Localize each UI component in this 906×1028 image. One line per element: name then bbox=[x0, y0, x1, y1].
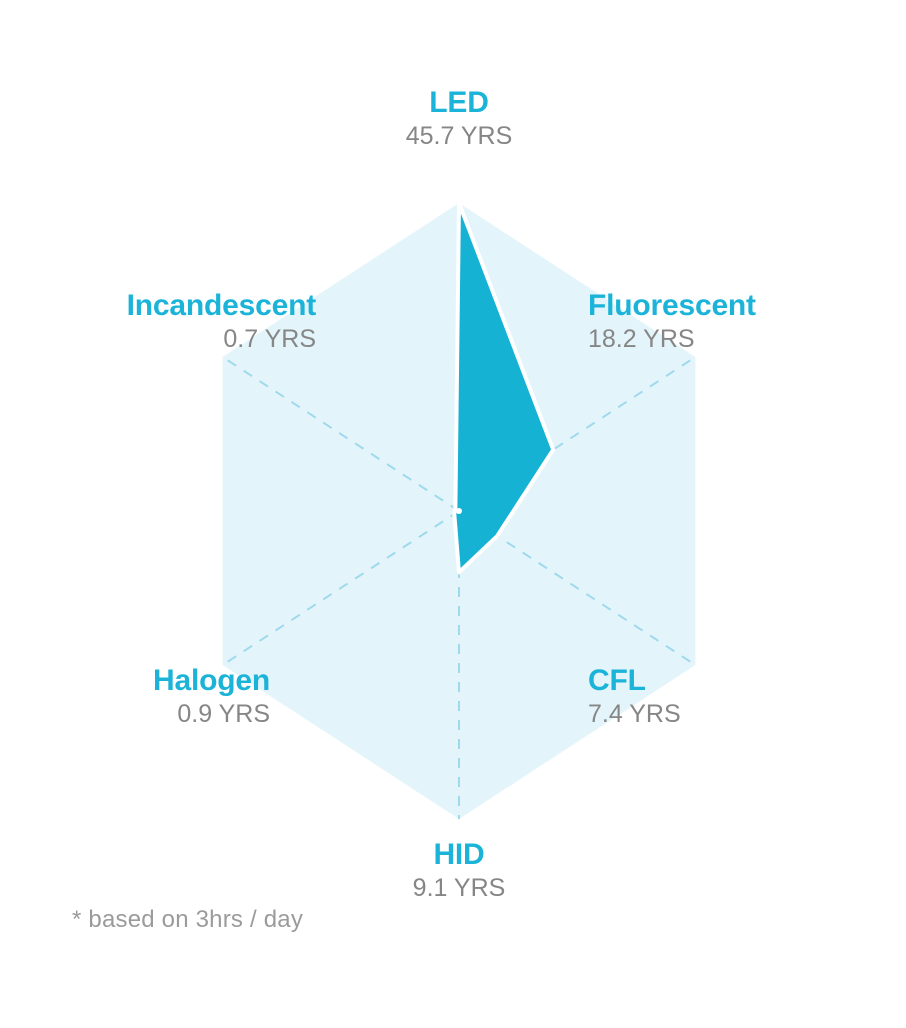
axis-label-incandescent: Incandescent 0.7 YRS bbox=[36, 291, 316, 352]
chart-footnote: * based on 3hrs / day bbox=[72, 906, 303, 934]
axis-label-cfl-value: 7.4 YRS bbox=[588, 702, 768, 727]
radar-chart-figure: LED 45.7 YRS Fluorescent 18.2 YRS CFL 7.… bbox=[0, 0, 906, 1028]
axis-label-halogen-name: Halogen bbox=[60, 666, 270, 696]
axis-label-led: LED 45.7 YRS bbox=[259, 88, 659, 149]
axis-label-cfl: CFL 7.4 YRS bbox=[588, 666, 768, 727]
axis-label-led-name: LED bbox=[259, 88, 659, 118]
axis-label-fluorescent-value: 18.2 YRS bbox=[588, 327, 888, 352]
axis-label-hid: HID 9.1 YRS bbox=[359, 840, 559, 901]
axis-label-incandescent-name: Incandescent bbox=[36, 291, 316, 321]
axis-label-halogen-value: 0.9 YRS bbox=[60, 702, 270, 727]
axis-label-fluorescent-name: Fluorescent bbox=[588, 291, 888, 321]
axis-label-incandescent-value: 0.7 YRS bbox=[36, 327, 316, 352]
axis-label-cfl-name: CFL bbox=[588, 666, 768, 696]
axis-label-fluorescent: Fluorescent 18.2 YRS bbox=[588, 291, 888, 352]
axis-label-halogen: Halogen 0.9 YRS bbox=[60, 666, 270, 727]
axis-label-led-value: 45.7 YRS bbox=[259, 124, 659, 149]
axis-label-hid-name: HID bbox=[359, 840, 559, 870]
axis-label-hid-value: 9.1 YRS bbox=[359, 876, 559, 901]
radar-center-point bbox=[456, 508, 462, 514]
